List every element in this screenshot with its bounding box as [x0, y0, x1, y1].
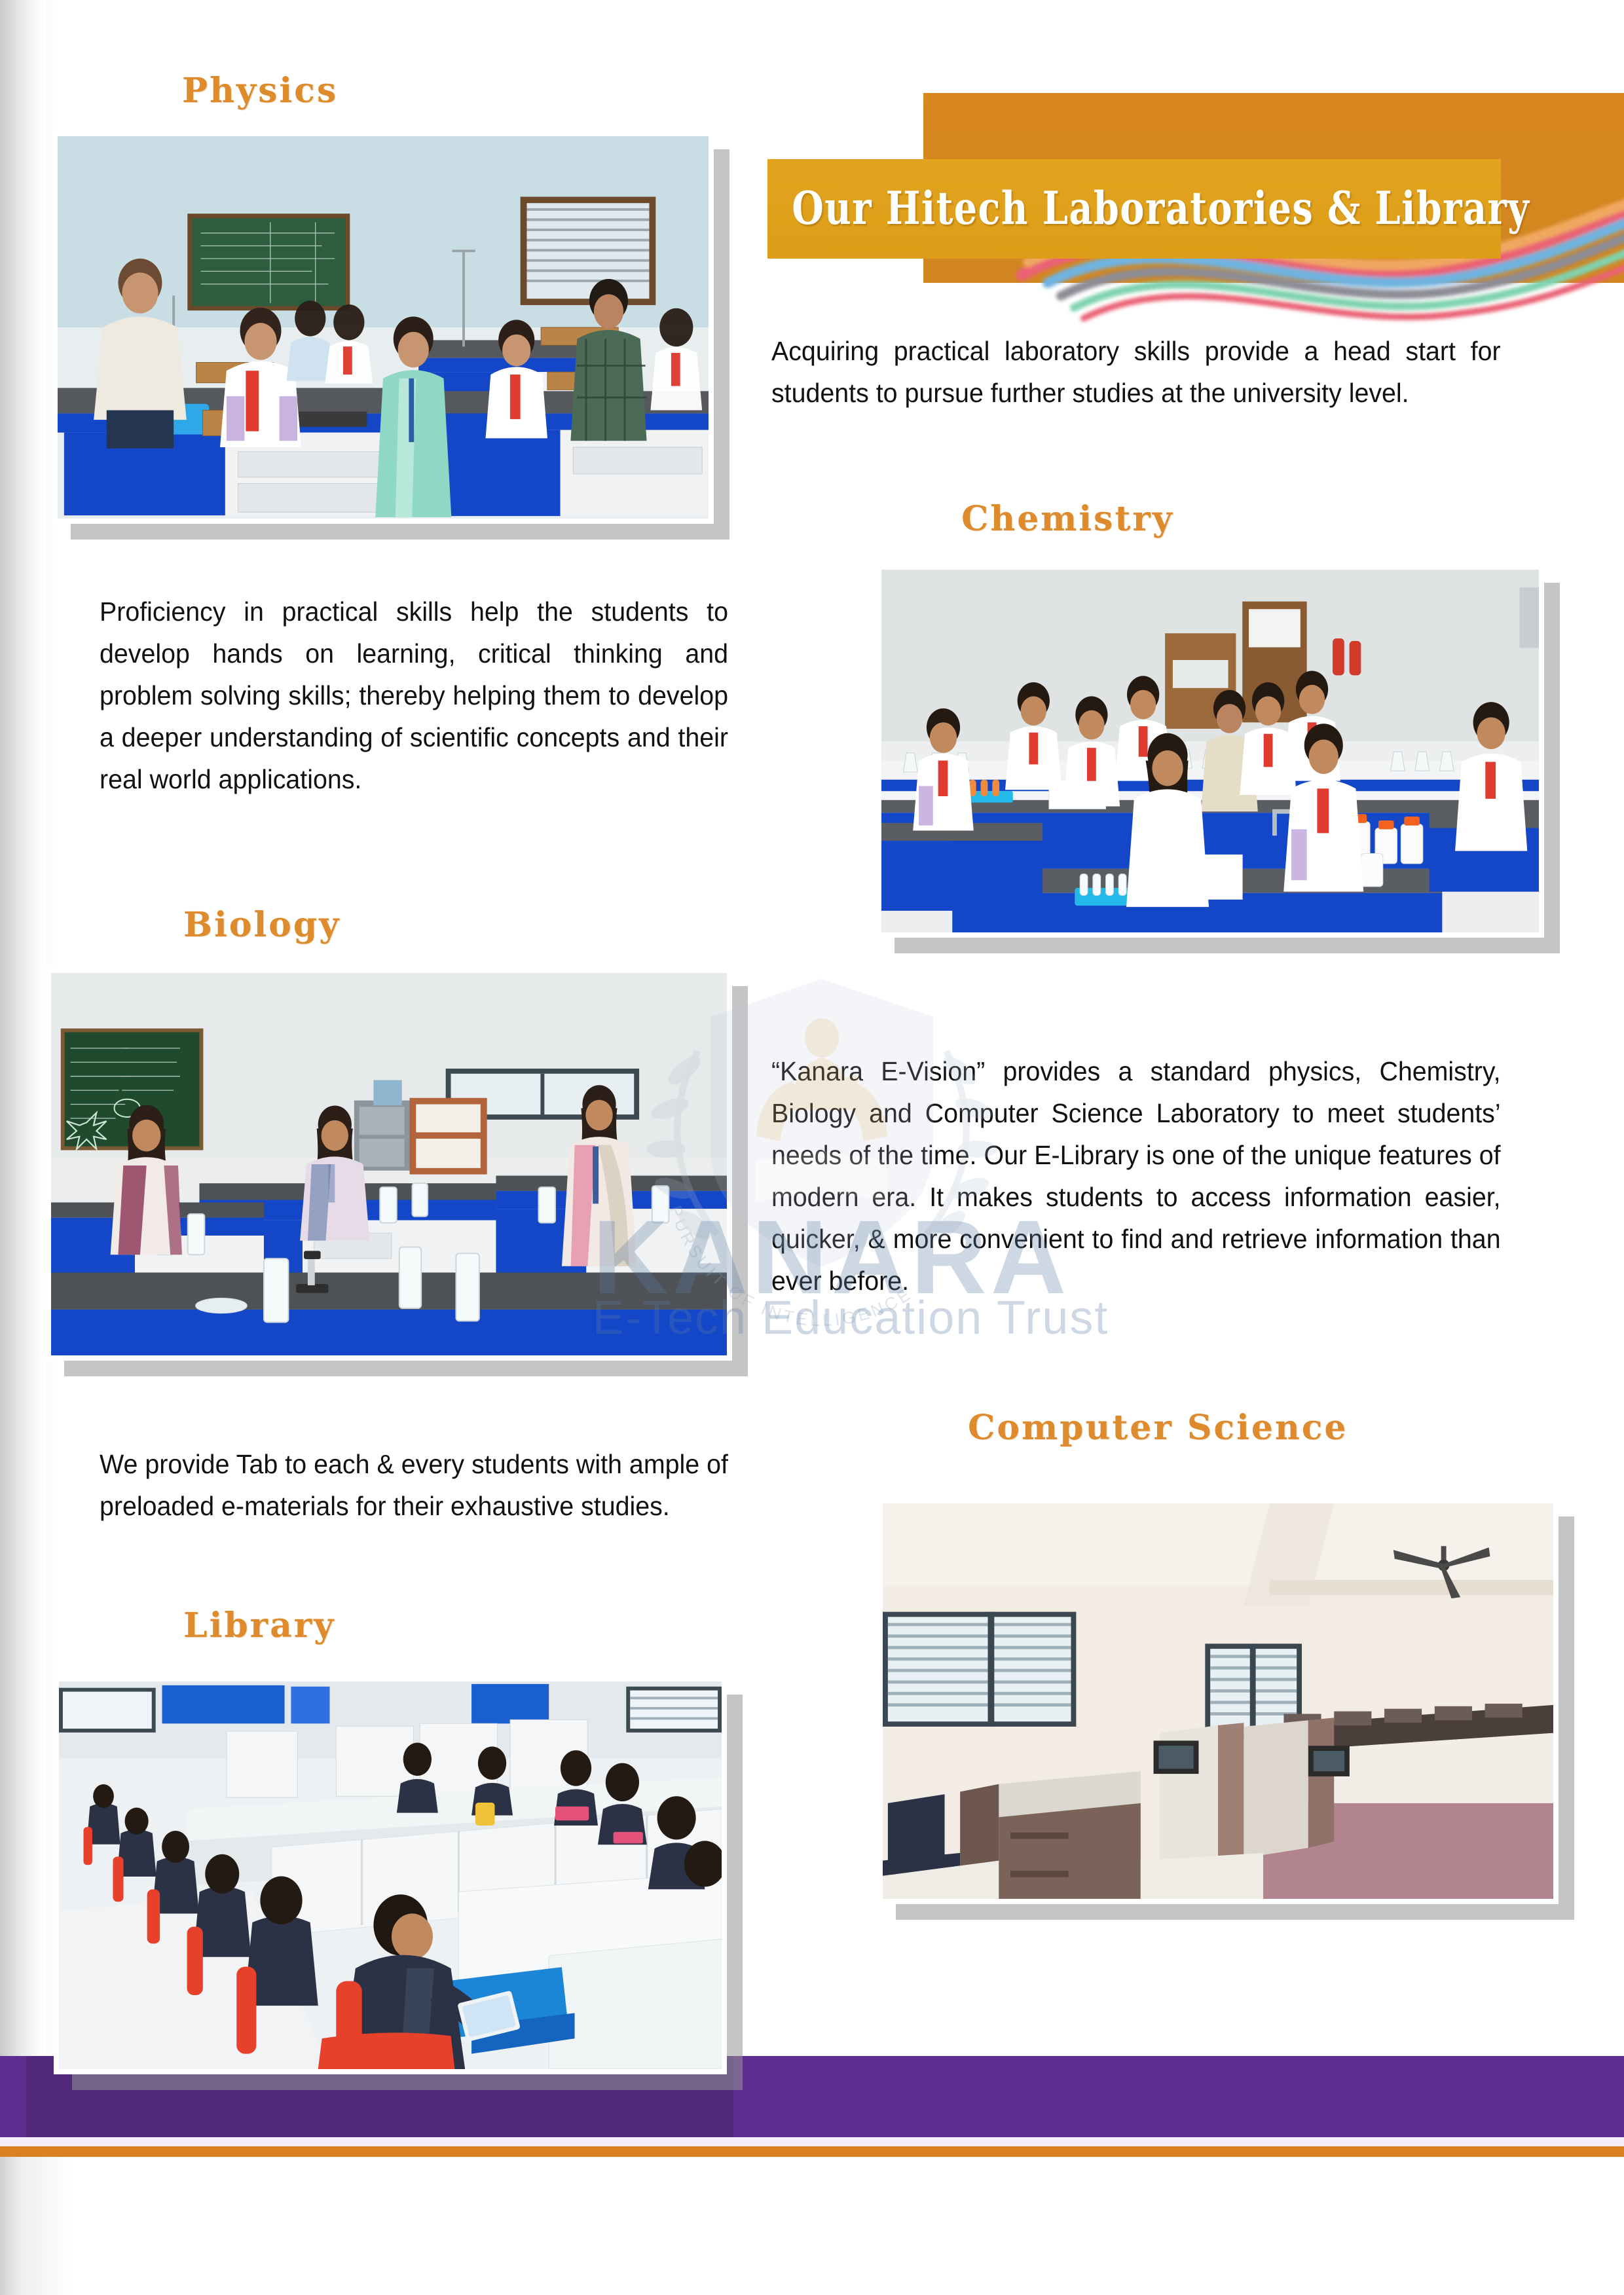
heading-chemistry: Chemistry [961, 499, 1174, 539]
header-title-band: Our Hitech Laboratories & Library [767, 159, 1501, 259]
page-title: Our Hitech Laboratories & Library [767, 182, 1530, 235]
photo-library [54, 1676, 727, 2074]
heading-biology: Biology [183, 905, 341, 945]
photo-computer-science-lab [877, 1498, 1559, 1904]
heading-computer-science: Computer Science [968, 1408, 1348, 1448]
footer-separator [0, 2137, 1624, 2146]
photo-chemistry-lab [876, 564, 1544, 938]
footer-orange-rule [0, 2146, 1624, 2157]
paragraph-tab-provision: We provide Tab to each & every students … [100, 1444, 728, 1528]
paragraph-evision: “Kanara E-Vision” provides a standard ph… [771, 1051, 1501, 1302]
heading-physics: Physics [182, 71, 338, 111]
photo-physics-lab [52, 131, 714, 524]
left-edge-gradient [0, 0, 46, 2295]
paragraph-practical-skills: Proficiency in practical skills help the… [100, 591, 728, 801]
paragraph-intro: Acquiring practical laboratory skills pr… [771, 331, 1501, 414]
brochure-page: Our Hitech Laboratories & Library Physic… [0, 0, 1624, 2295]
heading-library: Library [183, 1606, 335, 1645]
photo-biology-lab [46, 968, 732, 1361]
footer-bottom-margin [0, 2157, 1624, 2295]
